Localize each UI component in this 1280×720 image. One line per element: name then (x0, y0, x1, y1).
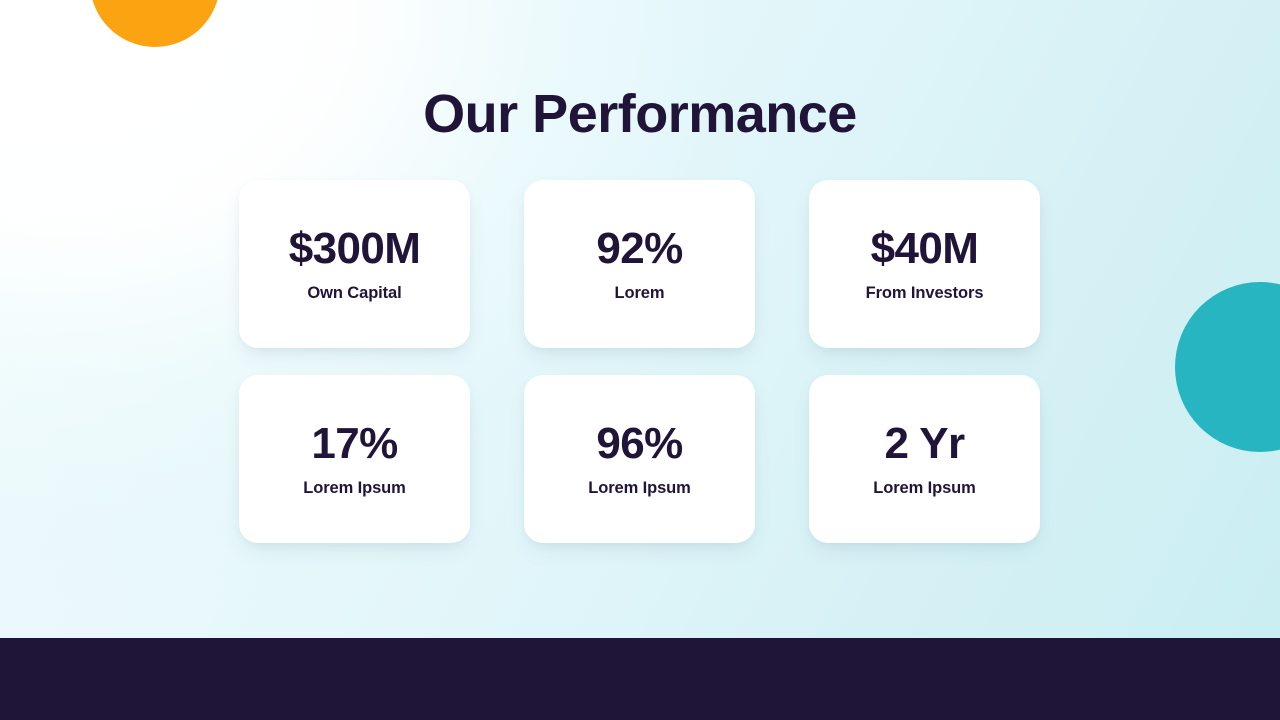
page-title: Our Performance (0, 85, 1280, 144)
stat-value: 92% (596, 227, 682, 271)
footer-band (0, 638, 1280, 720)
stat-card: 96% Lorem Ipsum (524, 375, 755, 543)
stats-grid: $300M Own Capital 92% Lorem $40M From In… (239, 180, 1041, 543)
stat-value: $40M (871, 227, 979, 271)
stat-label: Lorem (615, 285, 665, 302)
stat-value: 17% (311, 422, 397, 466)
stat-card: $300M Own Capital (239, 180, 470, 348)
stat-value: 2 Yr (885, 422, 965, 466)
stat-value: $300M (289, 227, 421, 271)
stat-label: From Investors (866, 285, 984, 302)
slide-canvas: Our Performance $300M Own Capital 92% Lo… (0, 0, 1280, 720)
stat-card: $40M From Investors (809, 180, 1040, 348)
stat-card: 2 Yr Lorem Ipsum (809, 375, 1040, 543)
stat-label: Own Capital (307, 285, 401, 302)
stat-card: 17% Lorem Ipsum (239, 375, 470, 543)
stat-card: 92% Lorem (524, 180, 755, 348)
stat-label: Lorem Ipsum (303, 480, 406, 497)
stat-label: Lorem Ipsum (873, 480, 976, 497)
stat-label: Lorem Ipsum (588, 480, 691, 497)
stat-value: 96% (596, 422, 682, 466)
